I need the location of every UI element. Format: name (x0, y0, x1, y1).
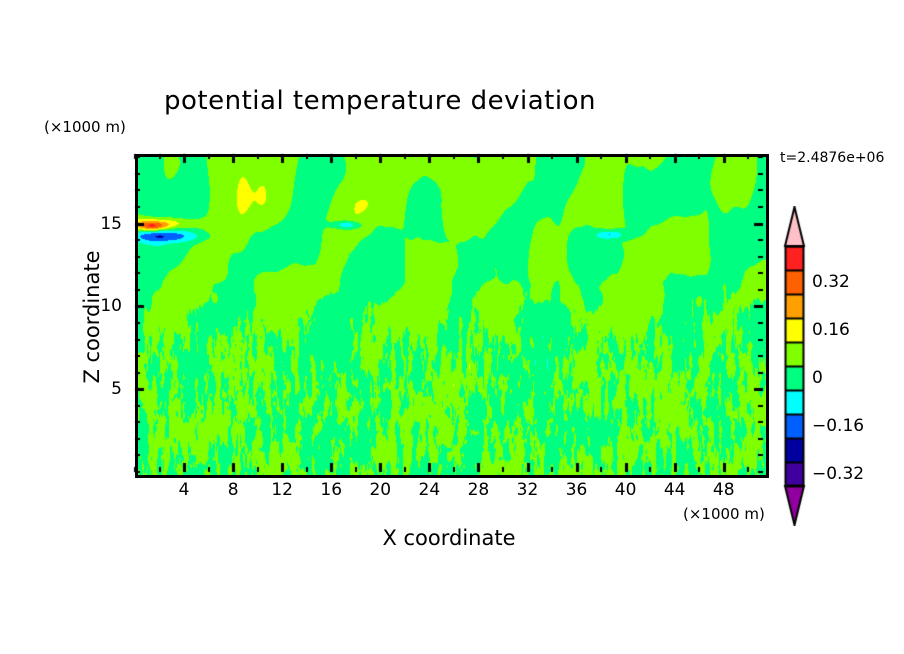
x-axis-tick-labels: 4812162024283236404448 (0, 480, 904, 506)
colorbar-label: −0.16 (812, 416, 864, 436)
y-axis-tick-labels: 51015 (0, 0, 135, 654)
time-annotation: t=2.4876e+06 (780, 150, 884, 166)
x-tick-label: 48 (713, 480, 735, 500)
contour-field (138, 157, 766, 475)
x-tick-label: 32 (517, 480, 539, 500)
x-tick-label: 36 (566, 480, 588, 500)
x-tick-label: 28 (468, 480, 490, 500)
x-tick-label: 12 (271, 480, 293, 500)
x-axis-title: X coordinate (135, 526, 763, 550)
x-tick-label: 8 (228, 480, 239, 500)
plot-area (135, 154, 769, 478)
x-tick-label: 24 (419, 480, 441, 500)
x-axis-unit-label: (×1000 m) (683, 505, 765, 523)
x-tick-label: 44 (664, 480, 686, 500)
colorbar-label: 0 (812, 368, 823, 388)
colorbar-swatches (778, 206, 812, 526)
y-axis-title: Z coordinate (80, 177, 104, 457)
colorbar-label: 0.32 (812, 272, 850, 292)
x-tick-label: 40 (615, 480, 637, 500)
colorbar-tick-labels: 0.320.160−0.16−0.32 (812, 206, 902, 526)
x-tick-label: 4 (179, 480, 190, 500)
figure-canvas: potential temperature deviation (×1000 m… (0, 0, 904, 654)
colorbar (778, 206, 812, 526)
x-tick-label: 20 (369, 480, 391, 500)
colorbar-label: 0.16 (812, 320, 850, 340)
colorbar-label: −0.32 (812, 464, 864, 484)
x-tick-label: 16 (320, 480, 342, 500)
